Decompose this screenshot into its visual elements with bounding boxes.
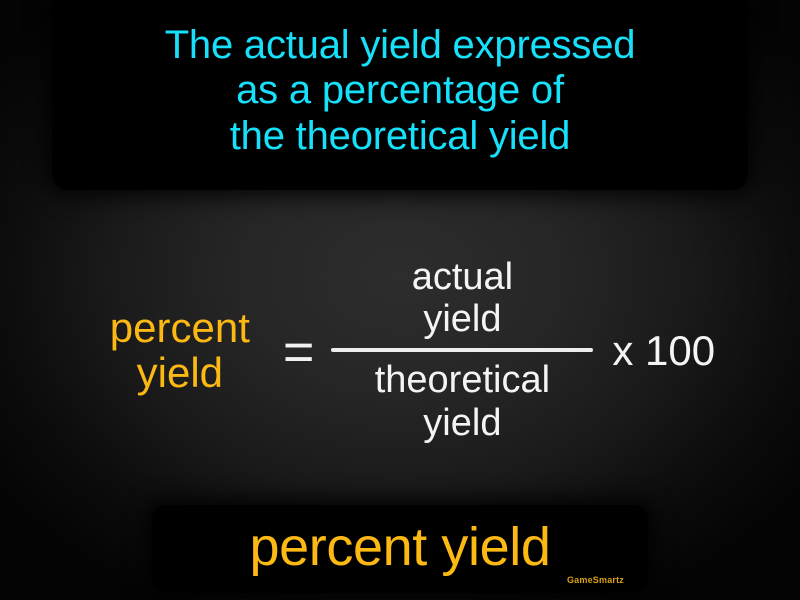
watermark: GameSmartz — [567, 575, 624, 585]
fraction: actual yield theoretical yield — [328, 256, 596, 444]
term-panel: percent yield GameSmartz — [152, 505, 648, 593]
formula-left-term-line-2: yield — [85, 350, 275, 395]
equals-sign: = — [283, 325, 315, 379]
fraction-numerator: actual yield — [412, 256, 513, 348]
fraction-numerator-line-2: yield — [412, 298, 513, 341]
formula-left-term-line-1: percent — [85, 305, 275, 350]
fraction-denominator: theoretical yield — [375, 352, 550, 444]
definition-line-2: as a percentage of — [236, 68, 564, 114]
definition-line-3: the theoretical yield — [230, 114, 570, 160]
term-label: percent yield — [250, 520, 551, 574]
formula-multiplier: x 100 — [612, 330, 715, 372]
formula-left-term: percent yield — [85, 305, 275, 396]
fraction-denominator-line-1: theoretical — [375, 359, 550, 402]
fraction-denominator-line-2: yield — [375, 402, 550, 445]
formula-area: percent yield = actual yield theoretical… — [0, 200, 800, 500]
definition-panel: The actual yield expressed as a percenta… — [52, 0, 748, 190]
formula-row: percent yield = actual yield theoretical… — [85, 256, 715, 444]
fraction-numerator-line-1: actual — [412, 256, 513, 299]
definition-line-1: The actual yield expressed — [165, 23, 636, 69]
flashcard-screen: The actual yield expressed as a percenta… — [0, 0, 800, 600]
